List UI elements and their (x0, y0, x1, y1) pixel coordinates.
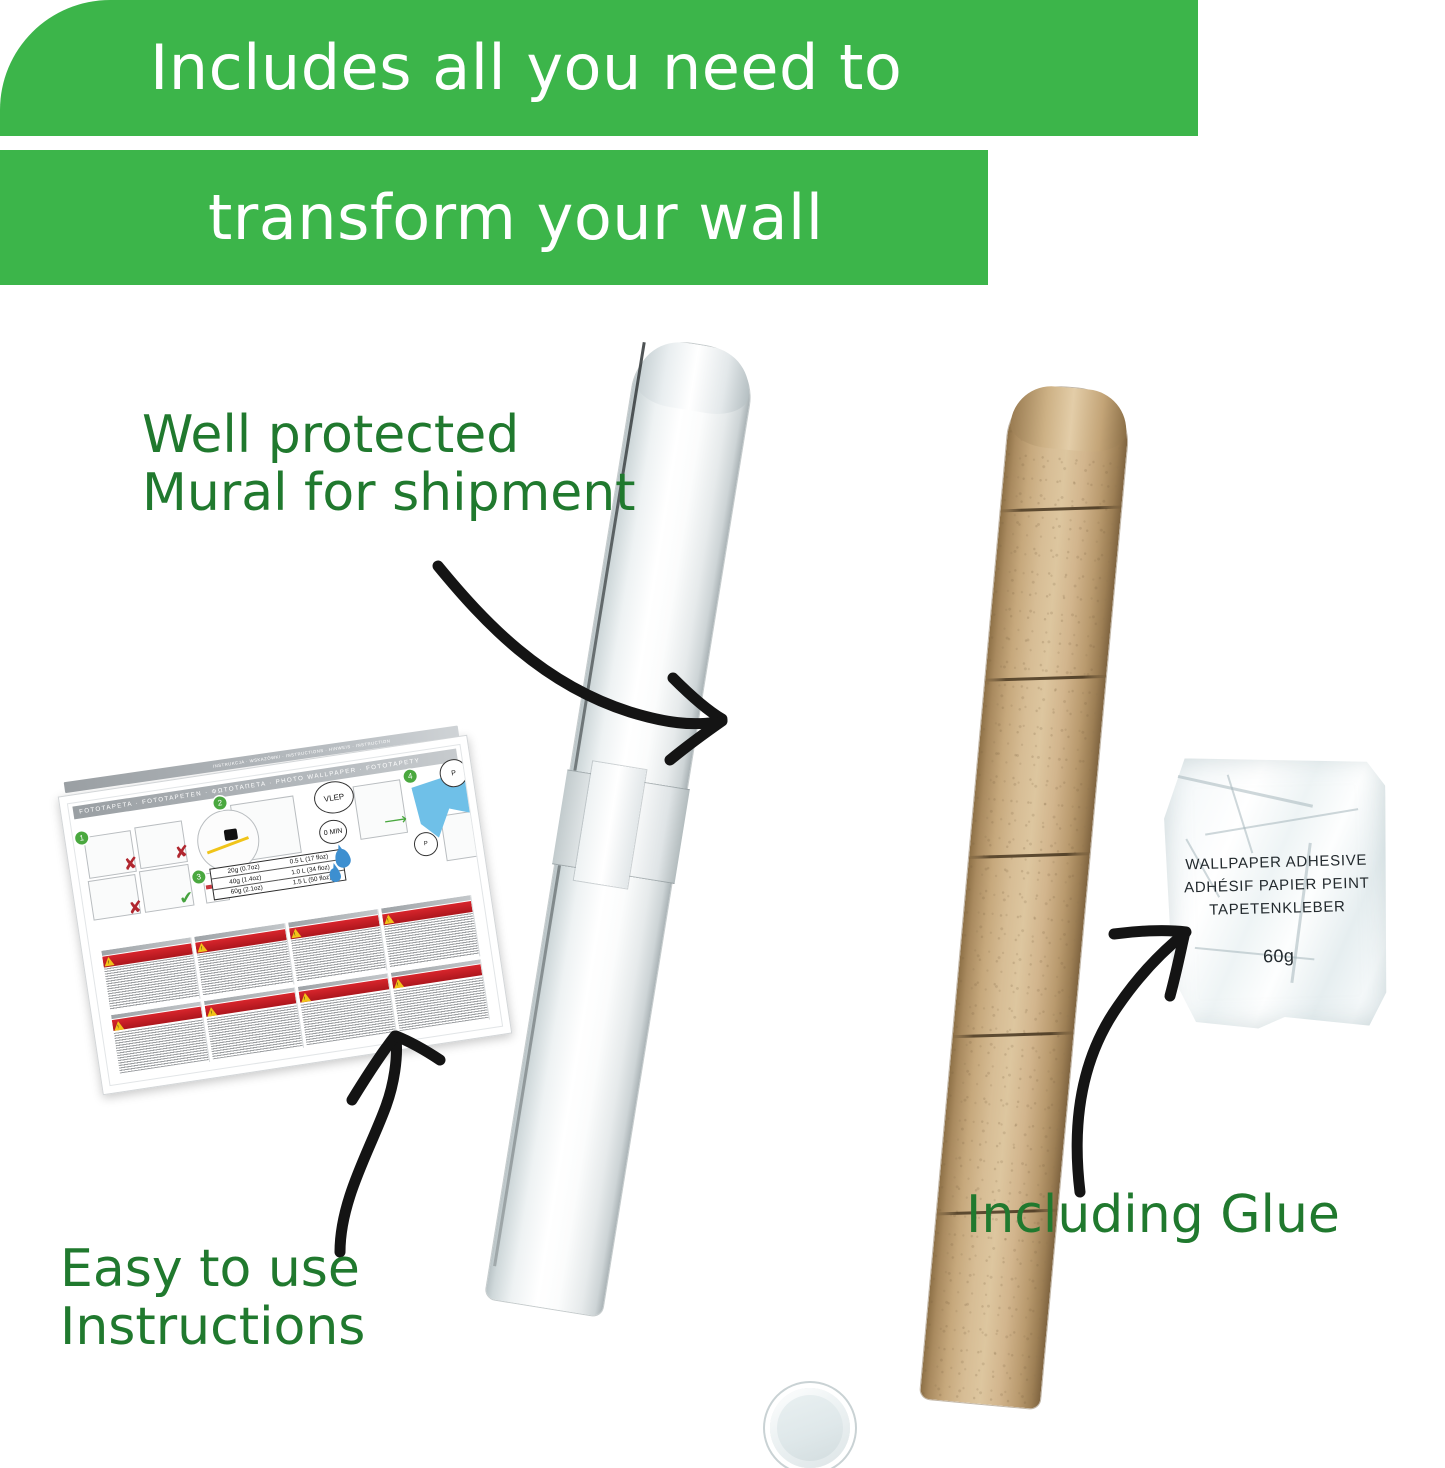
header-banner-line1-text: Includes all you need to (150, 37, 902, 99)
warning-triangle-icon (393, 978, 404, 988)
language-block (381, 895, 480, 969)
tube-end-cap (770, 1388, 850, 1468)
step-1-group: 1 ✘ ✘ ✘ ✔ (75, 806, 199, 939)
warning-triangle-icon (206, 1006, 217, 1016)
infographic-canvas: Includes all you need to transform your … (0, 0, 1445, 1445)
warning-triangle-icon (197, 942, 208, 952)
warning-triangle-icon (113, 1020, 124, 1030)
vlep-bubble: VLEP (312, 779, 356, 817)
wrong-mark: ✘ (127, 897, 144, 919)
flag-icons (155, 937, 189, 941)
flag-icons (355, 909, 375, 911)
language-block (111, 1001, 210, 1075)
header-banner-line1: Includes all you need to (0, 0, 1198, 136)
kraft-cardboard-tube (920, 383, 1132, 1410)
flag-icons (278, 987, 292, 988)
callout-easy-instructions: Easy to use Instructions (60, 1240, 365, 1356)
language-block (204, 987, 303, 1061)
language-block (101, 937, 200, 1011)
callout-mural-protection: Well protected Mural for shipment (142, 406, 636, 522)
warning-triangle-icon (290, 928, 301, 938)
callout-including-glue: Including Glue (966, 1186, 1340, 1244)
flag-icons (183, 1001, 199, 1003)
wrong-mark: ✘ (122, 854, 139, 876)
language-block (194, 923, 293, 997)
header-banner-line2-text: transform your wall (208, 187, 823, 249)
tape-head (224, 828, 238, 841)
step-badge-4: 4 (403, 769, 418, 784)
arrow-to-instructions (322, 1010, 522, 1260)
right-mark: ✔ (178, 888, 195, 910)
flag-icons (466, 959, 478, 960)
language-block (288, 909, 387, 983)
step-wall-panel (440, 809, 492, 861)
warning-triangle-icon (383, 914, 394, 924)
zero-min-bubble: 0 MIN (317, 818, 348, 846)
step-badge-2: 2 (213, 796, 228, 811)
step-vlep-group: VLEP 0 MIN ⟶ (318, 773, 419, 902)
arrow-to-mural-tube (430, 560, 770, 790)
wrong-mark: ✘ (173, 842, 190, 864)
green-arrow-icon: ⟶ (383, 809, 409, 831)
tube-end-cap-inner (777, 1395, 843, 1461)
warning-triangle-icon (299, 992, 310, 1002)
warning-triangle-icon (103, 956, 114, 966)
arrow-to-glue (1052, 900, 1252, 1200)
kraft-tube-body (920, 383, 1132, 1410)
header-banner-line2: transform your wall (0, 150, 988, 285)
